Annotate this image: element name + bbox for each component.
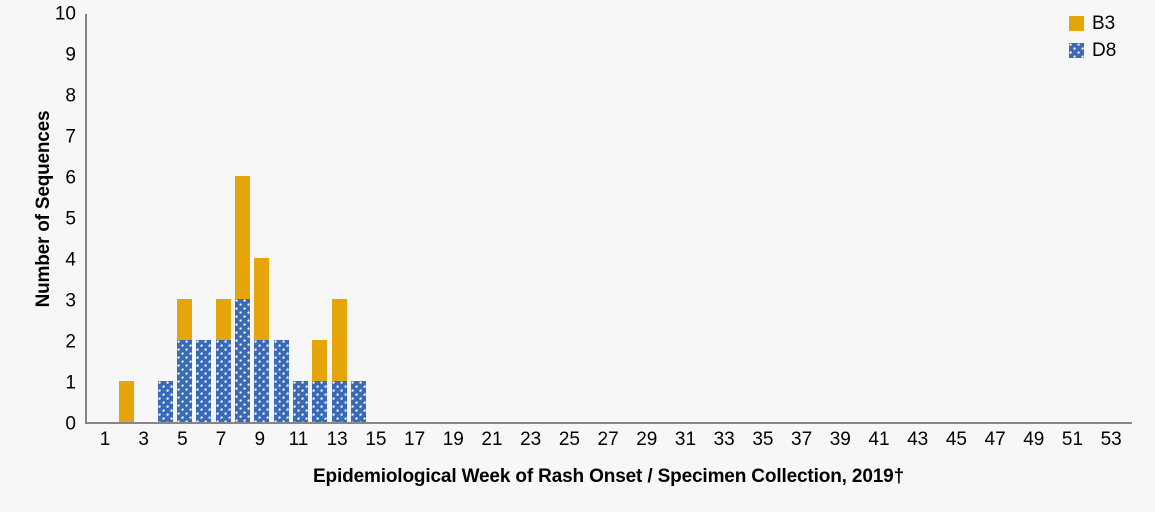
legend-label-d8: D8 <box>1092 41 1116 60</box>
bar-week-7[interactable] <box>216 299 231 422</box>
x-axis-tick-11: 11 <box>279 428 319 452</box>
x-axis-tick-35: 35 <box>743 428 783 452</box>
x-axis-tick-27: 27 <box>588 428 628 452</box>
plot-area <box>85 14 1132 424</box>
x-axis-tick-13: 13 <box>317 428 357 452</box>
x-axis-tick-29: 29 <box>627 428 667 452</box>
x-axis-tick-21: 21 <box>472 428 512 452</box>
x-axis-tick-23: 23 <box>511 428 551 452</box>
x-axis-tick-49: 49 <box>1014 428 1054 452</box>
y-axis-tick-6: 6 <box>32 169 76 188</box>
bar-segment-d8-week-9[interactable] <box>254 340 269 422</box>
bar-week-11[interactable] <box>293 381 308 422</box>
bar-segment-d8-week-12[interactable] <box>312 381 327 422</box>
x-axis-tick-47: 47 <box>975 428 1015 452</box>
y-axis-tick-4: 4 <box>32 251 76 270</box>
bar-week-12[interactable] <box>312 340 327 422</box>
bar-segment-d8-week-6[interactable] <box>196 340 211 422</box>
bars-layer <box>87 14 1132 422</box>
bar-segment-b3-week-13[interactable] <box>332 299 347 381</box>
bar-week-2[interactable] <box>119 381 134 422</box>
x-axis-tick-43: 43 <box>898 428 938 452</box>
x-axis-tick-17: 17 <box>395 428 435 452</box>
bar-week-9[interactable] <box>254 258 269 422</box>
bar-segment-d8-week-8[interactable] <box>235 299 250 422</box>
x-axis-tick-19: 19 <box>433 428 473 452</box>
bar-segment-b3-week-12[interactable] <box>312 340 327 381</box>
x-axis-tick-3: 3 <box>124 428 164 452</box>
x-axis-tick-33: 33 <box>704 428 744 452</box>
y-axis-tick-5: 5 <box>32 210 76 229</box>
legend-item-b3[interactable]: B3 <box>1069 10 1147 37</box>
bar-segment-b3-week-7[interactable] <box>216 299 231 340</box>
bar-segment-d8-week-4[interactable] <box>158 381 173 422</box>
bar-week-10[interactable] <box>274 340 289 422</box>
bar-segment-d8-week-7[interactable] <box>216 340 231 422</box>
y-axis-tick-2: 2 <box>32 333 76 352</box>
x-axis-tick-53: 53 <box>1091 428 1131 452</box>
bar-segment-b3-week-2[interactable] <box>119 381 134 422</box>
bar-week-8[interactable] <box>235 176 250 422</box>
bar-week-5[interactable] <box>177 299 192 422</box>
x-axis-tick-37: 37 <box>782 428 822 452</box>
x-axis-tick-7: 7 <box>201 428 241 452</box>
y-axis-tick-1: 1 <box>32 374 76 393</box>
y-axis-tick-3: 3 <box>32 292 76 311</box>
bar-segment-b3-week-5[interactable] <box>177 299 192 340</box>
x-axis-tick-1: 1 <box>85 428 125 452</box>
bar-segment-b3-week-9[interactable] <box>254 258 269 340</box>
y-axis-tick-8: 8 <box>32 87 76 106</box>
bar-week-4[interactable] <box>158 381 173 422</box>
y-axis-tick-labels: 012345678910 <box>32 0 76 440</box>
y-axis-tick-7: 7 <box>32 128 76 147</box>
bar-segment-d8-week-10[interactable] <box>274 340 289 422</box>
chart-legend: B3D8 <box>1069 10 1147 64</box>
y-axis-tick-10: 10 <box>32 5 76 24</box>
x-axis-tick-25: 25 <box>549 428 589 452</box>
x-axis-tick-5: 5 <box>162 428 202 452</box>
x-axis-tick-15: 15 <box>356 428 396 452</box>
legend-item-d8[interactable]: D8 <box>1069 37 1147 64</box>
bar-segment-b3-week-8[interactable] <box>235 176 250 299</box>
bar-segment-d8-week-11[interactable] <box>293 381 308 422</box>
bar-segment-d8-week-5[interactable] <box>177 340 192 422</box>
x-axis-title: Epidemiological Week of Rash Onset / Spe… <box>85 466 1132 488</box>
x-axis-tick-45: 45 <box>936 428 976 452</box>
bar-segment-d8-week-13[interactable] <box>332 381 347 422</box>
legend-swatch-b3-icon <box>1069 16 1084 31</box>
legend-swatch-d8-icon <box>1069 43 1084 58</box>
x-axis-tick-labels: 1357911131517192123252729313335373941434… <box>0 428 1155 458</box>
bar-week-6[interactable] <box>196 340 211 422</box>
bar-week-14[interactable] <box>351 381 366 422</box>
bar-week-13[interactable] <box>332 299 347 422</box>
legend-label-b3: B3 <box>1092 14 1115 33</box>
x-axis-tick-31: 31 <box>666 428 706 452</box>
x-axis-tick-9: 9 <box>240 428 280 452</box>
x-axis-tick-39: 39 <box>820 428 860 452</box>
bar-segment-d8-week-14[interactable] <box>351 381 366 422</box>
x-axis-tick-41: 41 <box>859 428 899 452</box>
y-axis-tick-9: 9 <box>32 46 76 65</box>
chart-container: Number of Sequences 012345678910 1357911… <box>0 0 1155 512</box>
x-axis-tick-51: 51 <box>1053 428 1093 452</box>
